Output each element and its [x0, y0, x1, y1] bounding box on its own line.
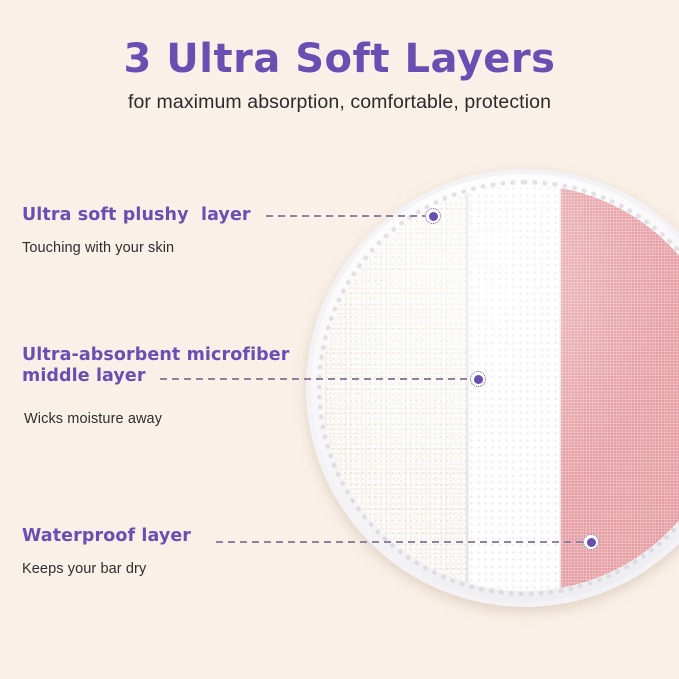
seam-plush-microfiber	[466, 185, 469, 591]
callout-marker-microfiber	[470, 371, 486, 387]
callout-title-waterproof: Waterproof layer	[22, 526, 191, 547]
page-title: 3 Ultra Soft Layers	[0, 36, 679, 82]
callout-description-waterproof: Keeps your bar dry	[22, 561, 191, 577]
layer-waterproof-pul	[561, 185, 679, 591]
layer-plush-terry	[322, 185, 468, 591]
page-subtitle: for maximum absorption, comfortable, pro…	[0, 91, 679, 114]
leader-line-waterproof	[216, 541, 591, 543]
infographic-canvas: 3 Ultra Soft Layers for maximum absorpti…	[0, 0, 679, 679]
callout-waterproof-layer: Waterproof layer Keeps your bar dry	[22, 526, 191, 577]
callout-marker-plush	[425, 208, 441, 224]
callout-title-plush: Ultra soft plushy layer	[22, 205, 251, 226]
marker-dot-icon	[429, 212, 438, 221]
seam-microfiber-pul	[559, 185, 562, 591]
marker-dot-icon	[587, 538, 596, 547]
callout-title-microfiber: Ultra-absorbent microfiber middle layer	[22, 345, 290, 388]
leader-line-plush	[266, 215, 432, 217]
layer-microfiber	[468, 185, 561, 591]
callout-description-plush: Touching with your skin	[22, 240, 251, 256]
header: 3 Ultra Soft Layers for maximum absorpti…	[0, 36, 679, 114]
callout-plush-layer: Ultra soft plushy layer Touching with yo…	[22, 205, 251, 256]
callout-description-microfiber: Wicks moisture away	[24, 411, 290, 427]
callout-microfiber-layer: Ultra-absorbent microfiber middle layer …	[22, 345, 290, 427]
pad-fabric-disc	[322, 185, 679, 591]
callout-marker-waterproof	[583, 534, 599, 550]
marker-dot-icon	[474, 375, 483, 384]
